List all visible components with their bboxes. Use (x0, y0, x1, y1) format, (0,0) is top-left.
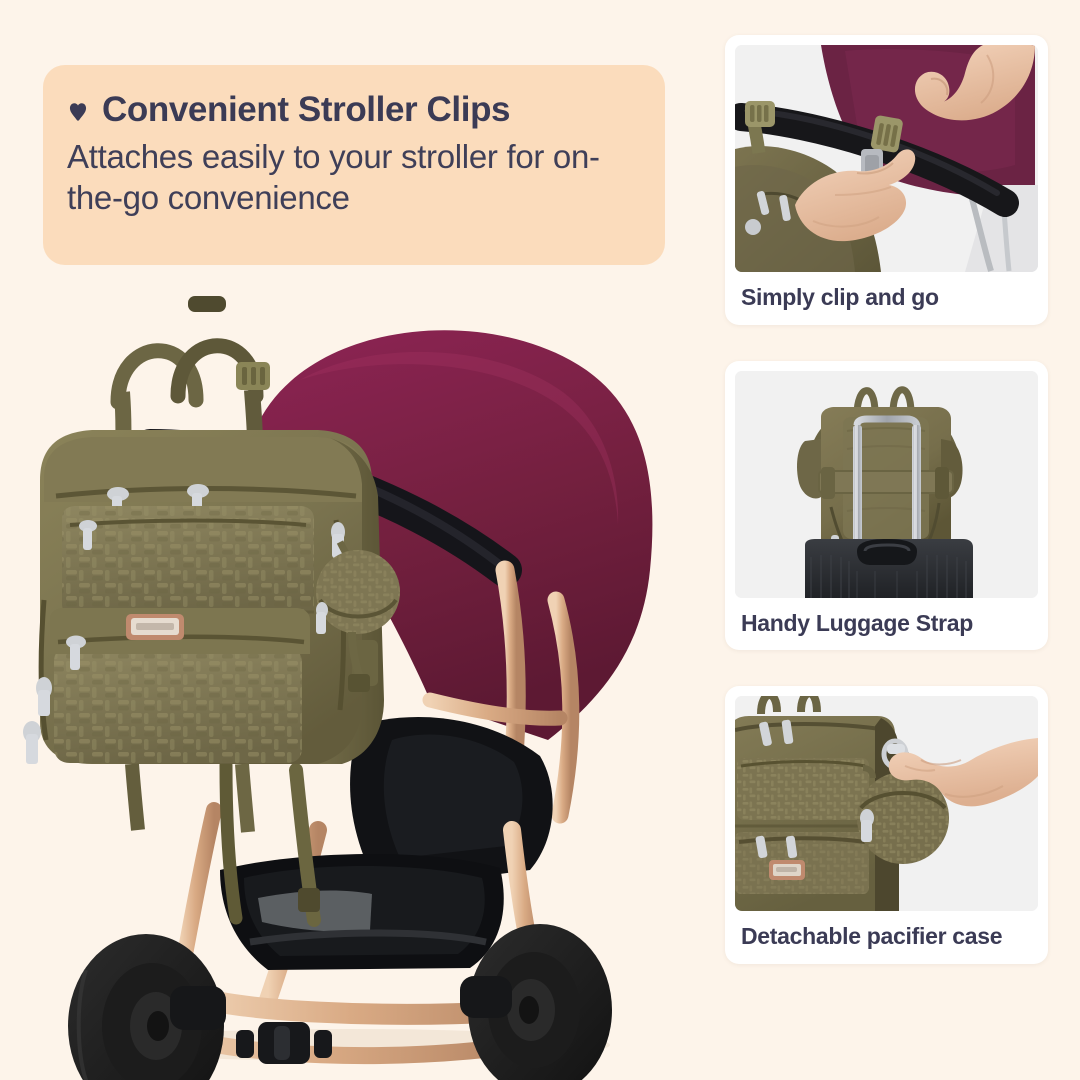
brand-badge (769, 860, 805, 880)
headline-banner: Convenient Stroller Clips Attaches easil… (43, 65, 665, 265)
photo-hands-clipping-bag-to-stroller-handlebar (735, 45, 1038, 272)
card-caption: Simply clip and go (735, 272, 1038, 317)
feature-card-pacifier-case[interactable]: Detachable pacifier case (725, 686, 1048, 964)
hero-product-image (0, 270, 700, 1080)
feature-card-luggage-strap[interactable]: Handy Luggage Strap (725, 361, 1048, 651)
headline-row: Convenient Stroller Clips (67, 91, 635, 130)
photo-hand-detaching-round-pacifier-case (735, 696, 1038, 911)
headline-title: Convenient Stroller Clips (102, 91, 510, 130)
heart-icon (67, 101, 89, 123)
headline-subtitle: Attaches easily to your stroller for on-… (67, 136, 635, 220)
feature-cards-column: Simply clip and go (725, 35, 1048, 1000)
feature-card-clip-and-go[interactable]: Simply clip and go (725, 35, 1048, 325)
brand-badge (126, 614, 184, 640)
product-infographic: Convenient Stroller Clips Attaches easil… (0, 0, 1080, 1080)
card-caption: Detachable pacifier case (735, 911, 1038, 956)
photo-backpack-on-suitcase-handle (735, 371, 1038, 598)
card-caption: Handy Luggage Strap (735, 598, 1038, 643)
